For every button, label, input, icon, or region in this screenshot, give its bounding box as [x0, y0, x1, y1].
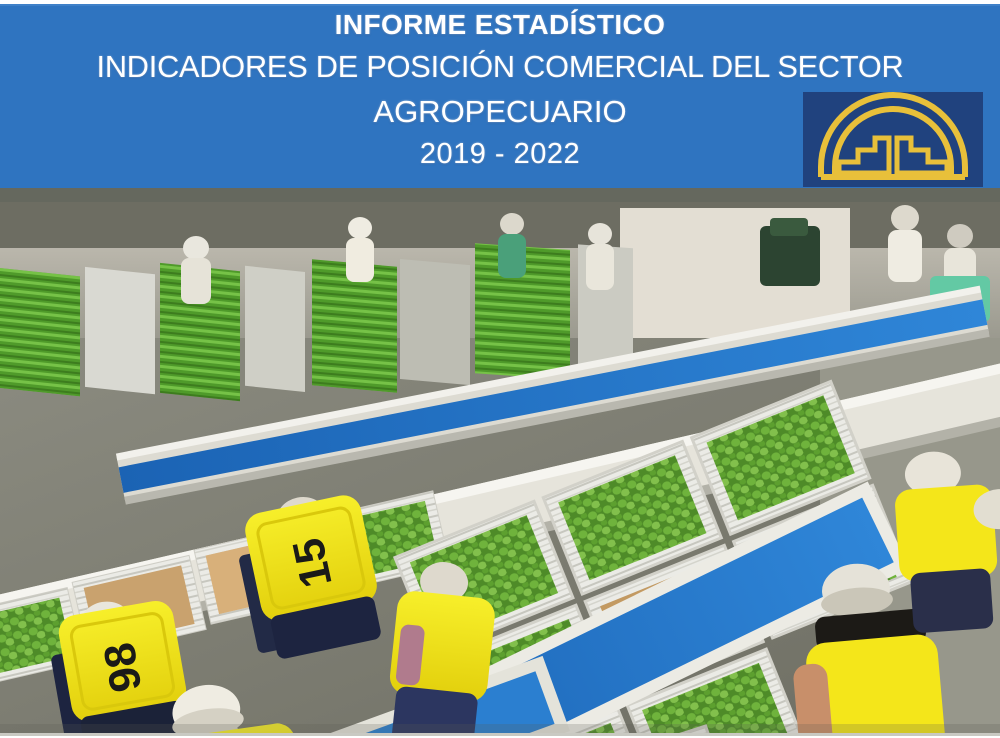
svg-text:98: 98: [95, 639, 152, 696]
title-line-1: INFORME ESTADÍSTICO: [0, 4, 1000, 39]
report-cover-page: INFORME ESTADÍSTICO INDICADORES DE POSIC…: [0, 0, 1000, 738]
title-line-2: INDICADORES DE POSICIÓN COMERCIAL DEL SE…: [5, 39, 995, 82]
packing-plant-illustration: 98 15: [0, 188, 1000, 736]
svg-text:15: 15: [283, 534, 341, 592]
header-banner: INFORME ESTADÍSTICO INDICADORES DE POSIC…: [0, 4, 1000, 188]
inei-logo: [803, 92, 983, 187]
stepped-arch-icon: [803, 92, 983, 187]
cover-photo: 98 15: [0, 188, 1000, 736]
